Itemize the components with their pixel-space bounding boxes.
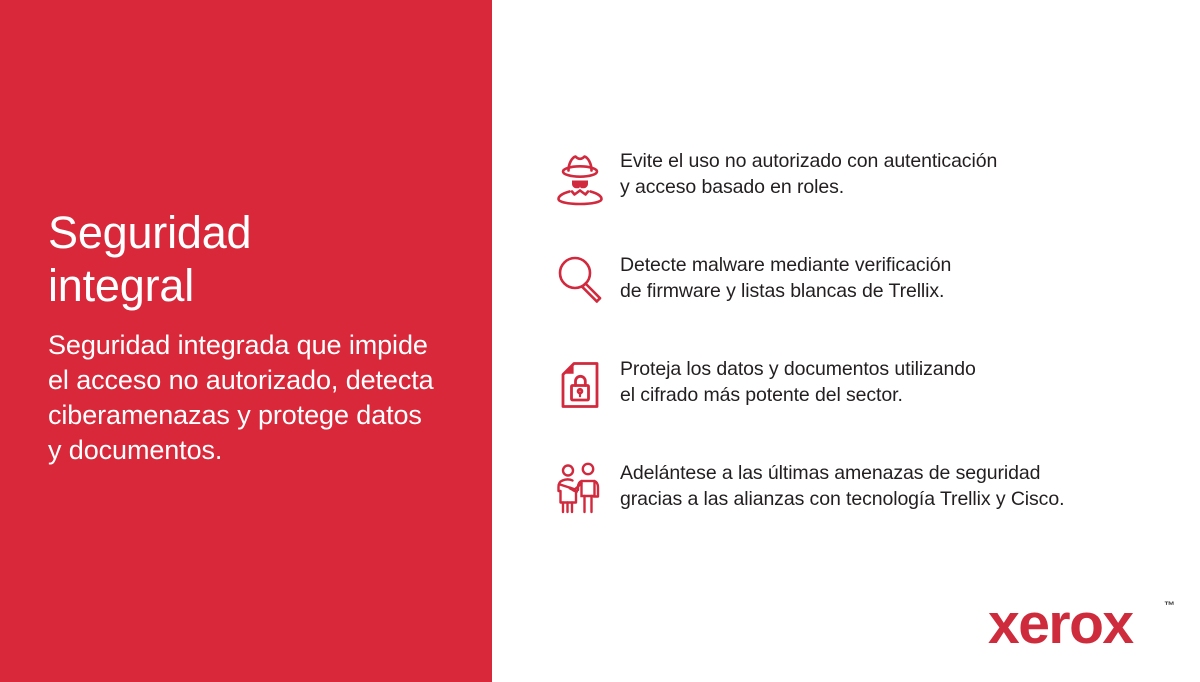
page-title: Seguridad integral bbox=[48, 206, 458, 312]
feature-text: Proteja los datos y documentos utilizand… bbox=[620, 348, 1160, 408]
handshake-people-icon bbox=[540, 452, 620, 520]
slide-canvas: Seguridad integral Seguridad integrada q… bbox=[0, 0, 1200, 682]
feature-text: Evite el uso no autorizado con autentica… bbox=[620, 140, 1160, 200]
headline-block: Seguridad integral Seguridad integrada q… bbox=[48, 206, 458, 468]
page-subtitle: Seguridad integrada que impide el acceso… bbox=[48, 328, 458, 468]
xerox-logo: xerox ™ bbox=[988, 596, 1173, 652]
spy-icon bbox=[540, 140, 620, 208]
feature-item: Proteja los datos y documentos utilizand… bbox=[540, 348, 1160, 452]
feature-list: Evite el uso no autorizado con autentica… bbox=[540, 140, 1160, 556]
trademark-symbol: ™ bbox=[1164, 600, 1175, 612]
feature-item: Adelántese a las últimas amenazas de seg… bbox=[540, 452, 1160, 556]
feature-text: Adelántese a las últimas amenazas de seg… bbox=[620, 452, 1160, 512]
xerox-wordmark: xerox bbox=[988, 596, 1133, 652]
document-lock-icon bbox=[540, 348, 620, 416]
left-red-panel: Seguridad integral Seguridad integrada q… bbox=[0, 0, 492, 682]
feature-item: Detecte malware mediante verificación de… bbox=[540, 244, 1160, 348]
feature-item: Evite el uso no autorizado con autentica… bbox=[540, 140, 1160, 244]
magnifier-icon bbox=[540, 244, 620, 312]
feature-text: Detecte malware mediante verificación de… bbox=[620, 244, 1160, 304]
